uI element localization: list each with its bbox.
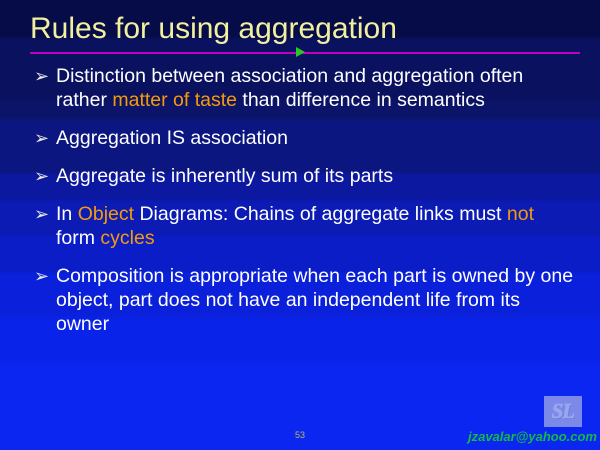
bullet-highlight-text: Object <box>78 203 134 225</box>
sl-logo-text: SL <box>544 396 582 427</box>
slide-canvas: Rules for using aggregation ➢Distinction… <box>0 0 600 450</box>
bullet-text: Aggregate is inherently sum of its parts <box>56 164 575 188</box>
bullet-plain-text: Aggregate is inherently sum of its parts <box>56 165 393 187</box>
bullet-plain-text: Composition is appropriate when each par… <box>56 265 573 335</box>
bullet-item: ➢In Object Diagrams: Chains of aggregate… <box>30 202 575 250</box>
bullet-text: Composition is appropriate when each par… <box>56 264 575 336</box>
page-title: Rules for using aggregation <box>30 12 397 46</box>
bullet-item: ➢Composition is appropriate when each pa… <box>30 264 575 336</box>
sl-logo: SL <box>544 396 582 427</box>
bullet-item: ➢Distinction between association and agg… <box>30 64 575 112</box>
footer-email-link[interactable]: jzavalar@yahoo.com <box>468 429 597 445</box>
bullet-list: ➢Distinction between association and agg… <box>30 64 575 350</box>
bullet-plain-text: Diagrams: Chains of aggregate links must <box>134 203 507 225</box>
bullet-plain-text: than difference in semantics <box>237 89 485 111</box>
arrow-bullet-icon: ➢ <box>34 64 49 88</box>
bullet-highlight-text: cycles <box>100 227 154 249</box>
bullet-text: In Object Diagrams: Chains of aggregate … <box>56 202 575 250</box>
bullet-plain-text: form <box>56 227 100 249</box>
bullet-highlight-text: matter of taste <box>112 89 237 111</box>
bullet-item: ➢Aggregate is inherently sum of its part… <box>30 164 575 188</box>
bullet-item: ➢Aggregation IS association <box>30 126 575 150</box>
green-triangle-icon <box>296 47 305 57</box>
bullet-highlight-text: not <box>507 203 534 225</box>
bullet-text: Aggregation IS association <box>56 126 575 150</box>
arrow-bullet-icon: ➢ <box>34 202 49 226</box>
arrow-bullet-icon: ➢ <box>34 264 49 288</box>
title-underline-rule <box>30 52 580 54</box>
bullet-plain-text: Aggregation IS association <box>56 127 288 149</box>
arrow-bullet-icon: ➢ <box>34 126 49 150</box>
bullet-plain-text: In <box>56 203 78 225</box>
bullet-text: Distinction between association and aggr… <box>56 64 575 112</box>
arrow-bullet-icon: ➢ <box>34 164 49 188</box>
